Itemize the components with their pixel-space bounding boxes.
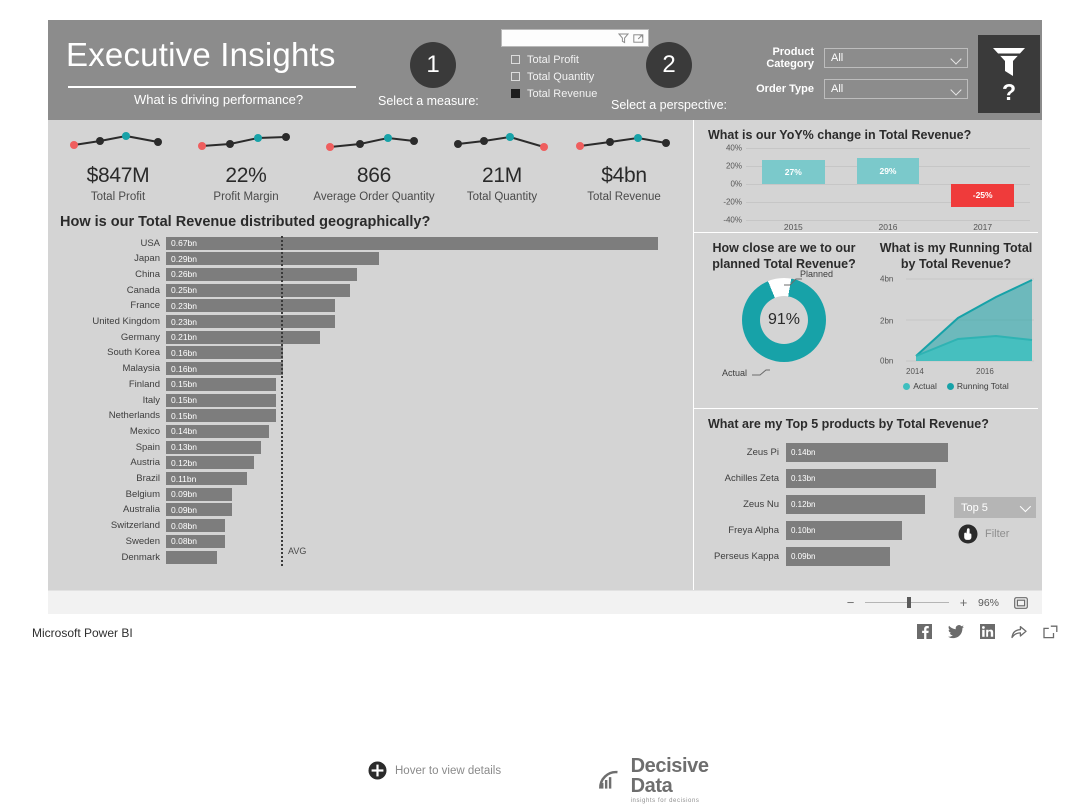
geo-bar-value: 0.23bn <box>166 301 197 311</box>
fit-to-page-icon[interactable] <box>1014 597 1028 609</box>
open-in-new-icon[interactable] <box>1043 625 1058 639</box>
geo-bar[interactable]: 0.08bn <box>166 519 225 532</box>
geo-category-label: Japan <box>48 253 166 264</box>
sparkline-total-revenue <box>560 128 688 158</box>
geo-bar-row[interactable]: Netherlands0.15bn <box>48 409 692 423</box>
geo-bar[interactable]: 0.13bn <box>166 441 261 454</box>
geo-bar-row[interactable]: Canada0.25bn <box>48 283 692 297</box>
yoy-gridline <box>746 220 1030 221</box>
hover-details-text: Hover to view details <box>395 765 501 777</box>
geo-bar-row[interactable]: Malaysia0.16bn <box>48 362 692 376</box>
funnel-icon <box>990 45 1028 79</box>
geo-bar[interactable] <box>166 551 217 564</box>
logo-tagline: insights for decisions <box>631 798 720 804</box>
top5-bar-row[interactable]: Zeus Pi0.14bn <box>702 441 952 463</box>
kpi-row: $847M Total Profit 22% Profit Margin <box>48 120 692 208</box>
page-title: Executive Insights <box>66 36 336 74</box>
geo-bar-row[interactable]: Italy0.15bn <box>48 393 692 407</box>
zoom-percent-label: 96% <box>978 597 1004 609</box>
yoy-x-tick: 2016 <box>841 222 936 232</box>
geo-bar-row[interactable]: Japan0.29bn <box>48 252 692 266</box>
geo-bar-value: 0.14bn <box>166 426 197 436</box>
header-filters: Product Category All Order Type All <box>728 46 968 108</box>
geo-bar[interactable]: 0.12bn <box>166 456 254 469</box>
legend-item-actual[interactable]: Actual <box>903 381 937 391</box>
chevron-down-icon[interactable] <box>952 86 961 91</box>
running-ytick-0bn: 0bn <box>880 357 893 366</box>
slicer-item-list: Total Profit Total Quantity Total Revenu… <box>501 52 649 101</box>
title-underline <box>68 86 356 88</box>
checkbox-total-quantity[interactable] <box>511 72 520 81</box>
zoom-slider-thumb[interactable] <box>907 597 911 608</box>
slicer-item-total-revenue[interactable]: Total Revenue <box>511 86 649 101</box>
geo-category-label: United Kingdom <box>48 316 166 327</box>
checkbox-total-profit[interactable] <box>511 55 520 64</box>
top5-bar-row[interactable]: Zeus Nu0.12bn <box>702 493 952 515</box>
top5-filter-button[interactable]: Filter <box>958 524 1009 544</box>
top5-bar[interactable]: 0.10bn <box>786 521 902 540</box>
geo-bar-row[interactable]: Austria0.12bn <box>48 456 692 470</box>
zoom-status-bar: − + 96% <box>48 590 1042 614</box>
kpi-card-average-order-quantity[interactable]: 866 Average Order Quantity <box>310 128 438 203</box>
kpi-caption-total-profit: Total Profit <box>54 191 182 203</box>
geo-bar-value: 0.15bn <box>166 395 197 405</box>
geo-bar-row[interactable]: France0.23bn <box>48 299 692 313</box>
kpi-caption-average-order-quantity: Average Order Quantity <box>310 191 438 203</box>
donut-label-actual: Actual <box>722 368 747 378</box>
geo-bar-value: 0.13bn <box>166 442 197 452</box>
slicer-label-total-revenue: Total Revenue <box>527 88 597 100</box>
legend-dot-running-total-icon <box>947 383 954 390</box>
yoy-chart-plot: 40%20%0%-20%-40% 27%201529%2016-25%2017 <box>710 148 1030 220</box>
logo-name: Decisive Data <box>631 756 720 796</box>
yoy-chart-title: What is our YoY% change in Total Revenue… <box>708 128 971 142</box>
geo-bar[interactable]: 0.23bn <box>166 315 335 328</box>
top5-chart-plot: Zeus Pi0.14bnAchilles Zeta0.13bnZeus Nu0… <box>702 441 952 571</box>
geo-bar[interactable]: 0.29bn <box>166 252 379 265</box>
right-column: What is our YoY% change in Total Revenue… <box>694 120 1042 590</box>
top5-products-panel: What are my Top 5 products by Total Reve… <box>696 409 1040 590</box>
filter-label-order-type: Order Type <box>728 83 814 95</box>
geo-bar-value: 0.16bn <box>166 364 197 374</box>
geo-bar-row[interactable]: Brazil0.11bn <box>48 472 692 486</box>
geo-bar-row[interactable]: South Korea0.16bn <box>48 346 692 360</box>
step-2-badge: 2 <box>646 42 692 88</box>
geo-chart-plot: USA0.67bnJapan0.29bnChina0.26bnCanada0.2… <box>48 236 692 566</box>
top5-filter-label: Filter <box>985 528 1009 540</box>
decisive-data-logo: Decisive Data insights for decisions <box>596 756 720 804</box>
top5-bar[interactable]: 0.09bn <box>786 547 890 566</box>
top5-dropdown-value: Top 5 <box>961 502 988 514</box>
dropdown-product-category[interactable]: All <box>824 48 968 68</box>
geo-category-label: Germany <box>48 332 166 343</box>
crosshair-plus-icon <box>368 761 387 780</box>
geo-category-label: China <box>48 269 166 280</box>
yoy-x-tick: 2015 <box>746 222 841 232</box>
powerbi-brand-label: Microsoft Power BI <box>32 626 133 640</box>
geo-category-label: Belgium <box>48 489 166 500</box>
yoy-bar[interactable]: 27% <box>762 160 824 184</box>
help-question-mark: ? <box>1002 81 1016 104</box>
yoy-bar-value: 27% <box>785 167 802 177</box>
yoy-y-tick: -40% <box>723 216 742 225</box>
kpi-caption-total-quantity: Total Quantity <box>438 191 566 203</box>
filter-row-order-type: Order Type All <box>728 79 968 99</box>
top5-bar-row[interactable]: Achilles Zeta0.13bn <box>702 467 952 489</box>
kpi-caption-profit-margin: Profit Margin <box>182 191 310 203</box>
sparkline-average-order-quantity <box>310 128 438 158</box>
top5-bar-value: 0.09bn <box>786 552 815 561</box>
legend-dot-actual-icon <box>903 383 910 390</box>
geo-bar-value: 0.11bn <box>166 474 196 484</box>
geo-category-label: Italy <box>48 395 166 406</box>
slicer-search-box[interactable] <box>501 29 649 47</box>
sparkline-total-profit <box>54 128 182 158</box>
geo-bar[interactable]: 0.09bn <box>166 503 232 516</box>
filter-icon[interactable] <box>618 33 629 44</box>
geo-bar[interactable]: 0.16bn <box>166 362 283 375</box>
geo-bar-value: 0.16bn <box>166 348 197 358</box>
kpi-card-profit-margin[interactable]: 22% Profit Margin <box>182 128 310 203</box>
report-footer: Microsoft Power BI <box>0 614 1080 654</box>
filter-row-product-category: Product Category All <box>728 46 968 70</box>
zoom-in-button[interactable]: + <box>959 596 968 609</box>
yoy-y-tick: 20% <box>726 162 742 171</box>
decisive-data-mark-icon <box>596 766 625 794</box>
yoy-bar-value: -25% <box>973 190 993 200</box>
geo-bar-value: 0.15bn <box>166 379 197 389</box>
slicer-item-total-profit[interactable]: Total Profit <box>511 52 649 67</box>
report-surface: Executive Insights What is driving perfo… <box>48 20 1042 590</box>
top5-bar-row[interactable]: Perseus Kappa0.09bn <box>702 545 952 567</box>
legend-label-running-total: Running Total <box>957 381 1009 391</box>
donut-ring[interactable]: 91% <box>742 278 826 362</box>
geo-average-line <box>281 236 283 566</box>
filter-label-product-category: Product Category <box>728 46 814 70</box>
geo-bar-row[interactable]: Mexico0.14bn <box>48 424 692 438</box>
checkbox-total-revenue[interactable] <box>511 89 520 98</box>
geo-average-label: AVG <box>288 546 306 556</box>
donut-leader-planned-icon <box>784 277 802 287</box>
geo-bar[interactable]: 0.25bn <box>166 284 350 297</box>
geo-bar-row[interactable]: Germany0.21bn <box>48 330 692 344</box>
running-total-legend: Actual Running Total <box>872 381 1040 391</box>
click-hand-icon <box>958 524 978 544</box>
kpi-value-total-quantity: 21M <box>438 164 566 188</box>
geo-bar-value: 0.08bn <box>166 536 197 546</box>
geo-bar-row[interactable]: Belgium0.09bn <box>48 487 692 501</box>
geo-category-label: France <box>48 300 166 311</box>
geo-category-label: Canada <box>48 285 166 296</box>
slicer-label-total-quantity: Total Quantity <box>527 71 594 83</box>
yoy-bar-value: 29% <box>879 166 896 176</box>
geo-bar[interactable]: 0.15bn <box>166 409 276 422</box>
kpi-caption-total-revenue: Total Revenue <box>560 191 688 203</box>
geo-category-label: Denmark <box>48 552 166 563</box>
facebook-icon[interactable] <box>917 624 932 639</box>
geo-bar-value: 0.26bn <box>166 269 197 279</box>
top5-chart-title: What are my Top 5 products by Total Reve… <box>708 417 989 431</box>
geo-bar[interactable]: 0.08bn <box>166 535 225 548</box>
legend-item-running-total[interactable]: Running Total <box>947 381 1009 391</box>
kpi-value-total-revenue: $4bn <box>560 164 688 188</box>
filter-help-button[interactable]: ? <box>978 35 1040 113</box>
mid-panel-row: How close are we to our planned Total Re… <box>696 233 1040 408</box>
hover-details-hint[interactable]: Hover to view details <box>368 761 501 780</box>
donut-label-planned: Planned <box>800 269 833 279</box>
geo-bar-row[interactable]: United Kingdom0.23bn <box>48 315 692 329</box>
geo-bar-value: 0.09bn <box>166 489 197 499</box>
chevron-down-icon[interactable] <box>952 55 961 60</box>
geo-bar-row[interactable]: Australia0.09bn <box>48 503 692 517</box>
geo-bar[interactable]: 0.26bn <box>166 268 357 281</box>
kpi-card-total-quantity[interactable]: 21M Total Quantity <box>438 128 566 203</box>
running-total-title: What is my Running Total by Total Revenu… <box>872 241 1040 272</box>
geo-bar-value: 0.23bn <box>166 317 197 327</box>
geo-category-label: South Korea <box>48 347 166 358</box>
social-share-bar <box>917 624 1058 639</box>
yoy-plot-area: 27%201529%2016-25%2017 <box>746 148 1030 220</box>
running-total-chart: What is my Running Total by Total Revenu… <box>872 233 1040 408</box>
yoy-y-axis: 40%20%0%-20%-40% <box>710 148 744 220</box>
slicer-label-total-profit: Total Profit <box>527 54 579 66</box>
geo-category-label: Switzerland <box>48 520 166 531</box>
geo-bar-row[interactable]: Spain0.13bn <box>48 440 692 454</box>
geo-bar[interactable]: 0.21bn <box>166 331 320 344</box>
measure-slicer[interactable]: Total Profit Total Quantity Total Revenu… <box>501 29 649 103</box>
geo-bar-row[interactable]: Finland0.15bn <box>48 377 692 391</box>
geo-bar-value: 0.29bn <box>166 254 197 264</box>
slicer-item-total-quantity[interactable]: Total Quantity <box>511 69 649 84</box>
donut-center-value: 91% <box>760 296 808 344</box>
linkedin-icon[interactable] <box>980 624 995 639</box>
geo-category-label: Austria <box>48 457 166 468</box>
geo-bar-value: 0.09bn <box>166 505 197 515</box>
top5-bar[interactable]: 0.12bn <box>786 495 925 514</box>
top5-dropdown[interactable]: Top 5 <box>954 497 1036 518</box>
dropdown-value-product-category: All <box>831 52 843 64</box>
running-total-area-svg <box>906 275 1034 367</box>
geo-category-label: Finland <box>48 379 166 390</box>
geo-bar[interactable]: 0.23bn <box>166 299 335 312</box>
dropdown-value-order-type: All <box>831 83 843 95</box>
top5-bar-value: 0.14bn <box>786 448 815 457</box>
step-1-label: Select a measure: <box>378 94 479 108</box>
zoom-out-button[interactable]: − <box>846 596 855 609</box>
top5-bar-value: 0.12bn <box>786 500 815 509</box>
geo-bar-value: 0.25bn <box>166 285 197 295</box>
yoy-chart-panel: What is our YoY% change in Total Revenue… <box>696 120 1040 232</box>
geo-category-label: Brazil <box>48 473 166 484</box>
yoy-x-tick: 2017 <box>935 222 1030 232</box>
running-ytick-2bn: 2bn <box>880 317 893 326</box>
focus-mode-icon[interactable] <box>633 33 644 44</box>
geo-category-label: Malaysia <box>48 363 166 374</box>
top5-category-label: Zeus Nu <box>702 499 786 510</box>
geo-category-label: Netherlands <box>48 410 166 421</box>
top5-bar[interactable]: 0.13bn <box>786 469 936 488</box>
geo-bar-value: 0.12bn <box>166 458 197 468</box>
geo-bar-row[interactable]: USA0.67bn <box>48 236 692 250</box>
geo-bar-value: 0.21bn <box>166 332 197 342</box>
geo-bar[interactable]: 0.67bn <box>166 237 658 250</box>
yoy-bar[interactable]: 29% <box>857 158 919 184</box>
geo-category-label: USA <box>48 238 166 249</box>
top5-bar-value: 0.10bn <box>786 526 815 535</box>
report-header: Executive Insights What is driving perfo… <box>48 20 1042 120</box>
sparkline-profit-margin <box>182 128 310 158</box>
page-subtitle: What is driving performance? <box>134 92 303 107</box>
geo-bar[interactable]: 0.15bn <box>166 394 276 407</box>
top5-category-label: Zeus Pi <box>702 447 786 458</box>
geo-category-label: Spain <box>48 442 166 453</box>
dropdown-order-type[interactable]: All <box>824 79 968 99</box>
kpi-value-average-order-quantity: 866 <box>310 164 438 188</box>
legend-label-actual: Actual <box>913 381 937 391</box>
geo-bar-value: 0.15bn <box>166 411 197 421</box>
geo-bar-value: 0.08bn <box>166 521 197 531</box>
geo-bar[interactable]: 0.16bn <box>166 346 283 359</box>
power-bi-report-canvas: Executive Insights What is driving perfo… <box>0 0 1080 654</box>
donut-leader-actual-icon <box>752 369 770 379</box>
geo-bar-value: 0.67bn <box>166 238 197 248</box>
top5-category-label: Achilles Zeta <box>702 473 786 484</box>
top5-category-label: Perseus Kappa <box>702 551 786 562</box>
yoy-gridline <box>746 148 1030 149</box>
top5-bar[interactable]: 0.14bn <box>786 443 948 462</box>
top5-bar-value: 0.13bn <box>786 474 815 483</box>
yoy-bar[interactable]: -25% <box>951 184 1013 207</box>
geo-bar[interactable]: 0.15bn <box>166 378 276 391</box>
step-1-badge: 1 <box>410 42 456 88</box>
yoy-y-tick: 0% <box>730 180 742 189</box>
yoy-y-tick: 40% <box>726 144 742 153</box>
chevron-down-icon[interactable] <box>1020 501 1031 512</box>
sparkline-total-quantity <box>438 128 566 158</box>
zoom-slider[interactable] <box>865 602 949 603</box>
geo-bar[interactable]: 0.14bn <box>166 425 269 438</box>
kpi-value-total-profit: $847M <box>54 164 182 188</box>
geo-bar-row[interactable]: Denmark <box>48 550 692 564</box>
share-icon[interactable] <box>1011 624 1027 639</box>
running-xtick-2014: 2014 <box>906 367 924 376</box>
geo-category-label: Australia <box>48 504 166 515</box>
running-total-plot: 4bn 2bn 0bn 2014 2016 <box>880 275 1034 367</box>
geo-bar-row[interactable]: China0.26bn <box>48 267 692 281</box>
kpi-card-total-revenue[interactable]: $4bn Total Revenue <box>560 128 688 203</box>
donut-chart-title: How close are we to our planned Total Re… <box>696 241 872 272</box>
geo-revenue-chart: How is our Total Revenue distributed geo… <box>48 208 692 590</box>
kpi-card-total-profit[interactable]: $847M Total Profit <box>54 128 182 203</box>
geo-chart-title: How is our Total Revenue distributed geo… <box>60 214 430 230</box>
running-xtick-2016: 2016 <box>976 367 994 376</box>
top5-bar-row[interactable]: Freya Alpha0.10bn <box>702 519 952 541</box>
twitter-icon[interactable] <box>948 625 964 639</box>
geo-bar[interactable]: 0.11bn <box>166 472 247 485</box>
running-ytick-4bn: 4bn <box>880 275 893 284</box>
geo-bar-row[interactable]: Switzerland0.08bn <box>48 519 692 533</box>
geo-category-label: Sweden <box>48 536 166 547</box>
geo-bar-row[interactable]: Sweden0.08bn <box>48 534 692 548</box>
kpi-value-profit-margin: 22% <box>182 164 310 188</box>
top5-category-label: Freya Alpha <box>702 525 786 536</box>
geo-bar[interactable]: 0.09bn <box>166 488 232 501</box>
yoy-y-tick: -20% <box>723 198 742 207</box>
geo-category-label: Mexico <box>48 426 166 437</box>
planned-revenue-gauge: How close are we to our planned Total Re… <box>696 233 872 408</box>
